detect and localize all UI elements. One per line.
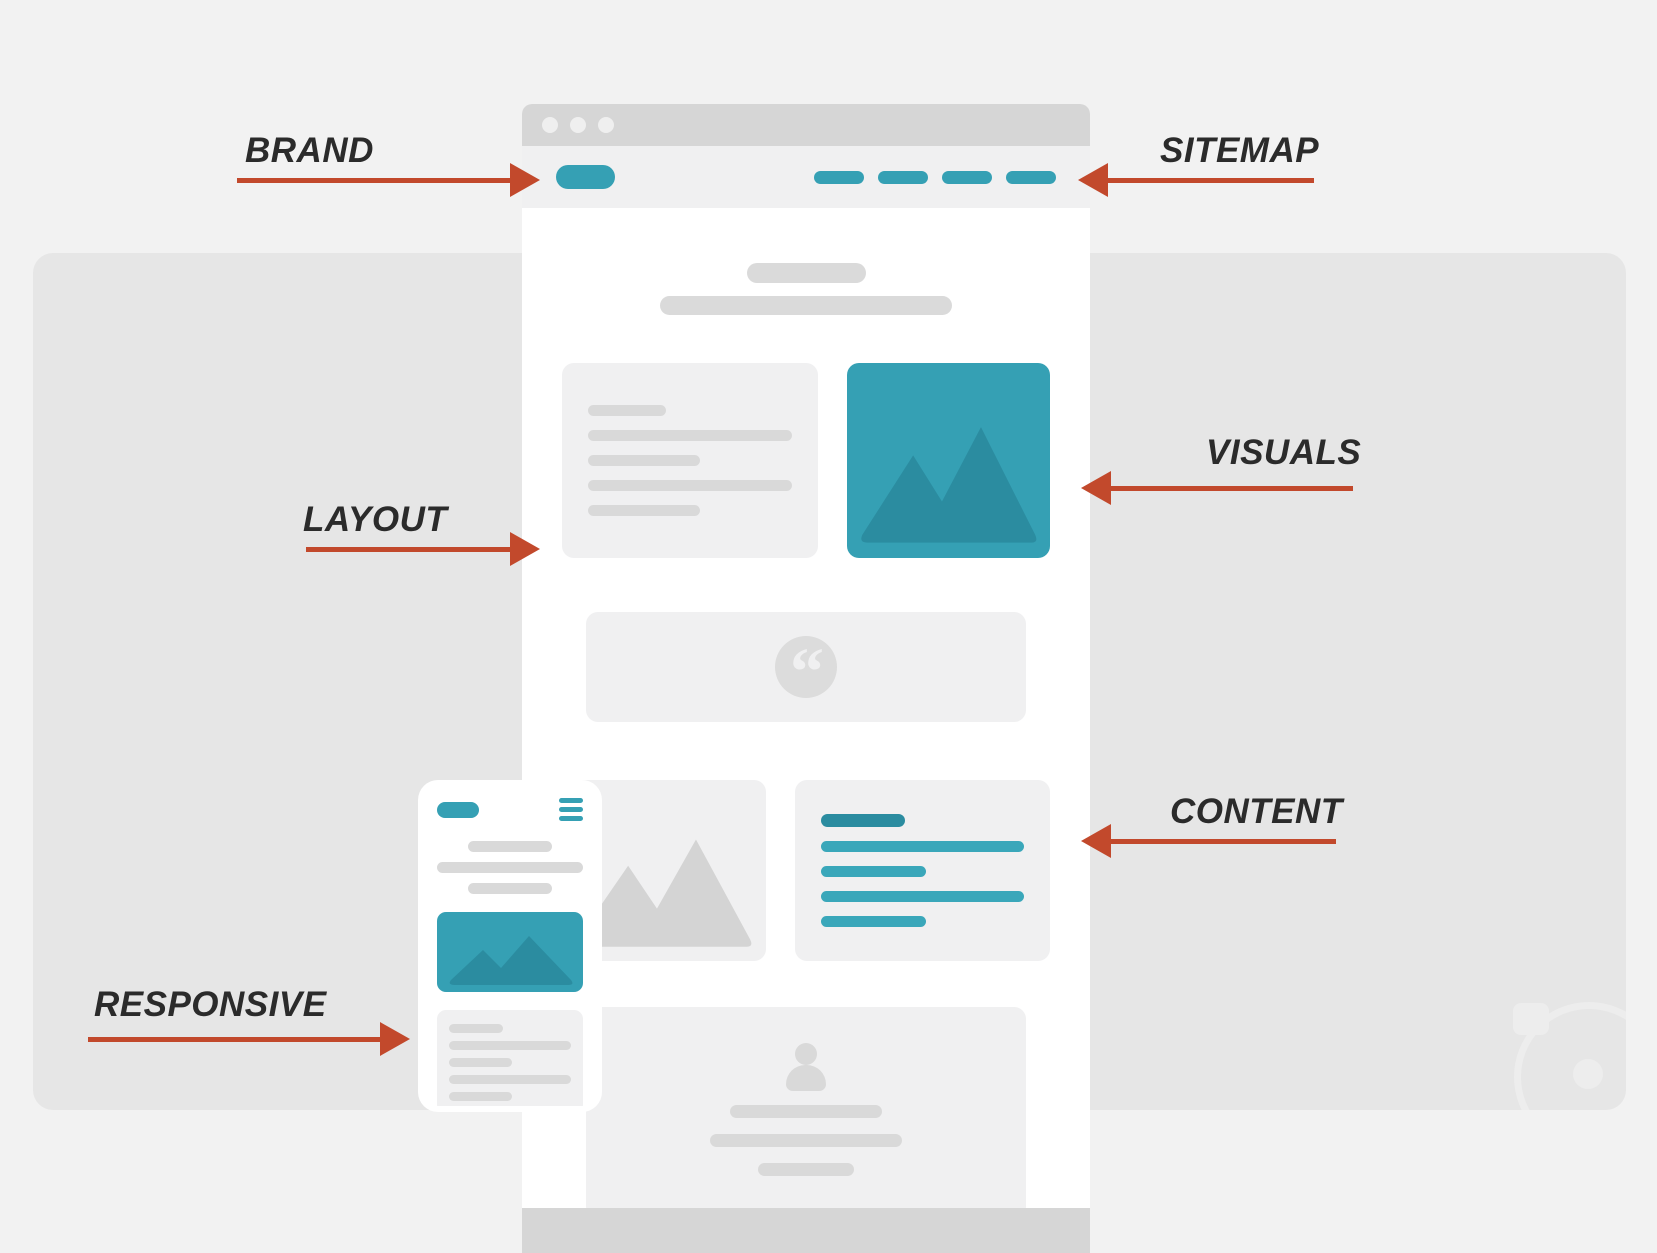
mountain-image-icon <box>437 912 583 992</box>
testimonial-card: “ <box>586 612 1026 722</box>
phone-image-card[interactable] <box>437 912 583 992</box>
page-layout: “ <box>522 208 1090 1208</box>
avatar-head <box>795 1043 817 1065</box>
window-minimize-dot-icon[interactable] <box>570 117 586 133</box>
site-navigation-bar <box>522 146 1090 208</box>
mountain-image-icon <box>847 363 1051 558</box>
nav-pill-1[interactable] <box>814 171 864 184</box>
annotation-label-sitemap: SITEMAP <box>1160 131 1319 171</box>
arrow-shaft <box>306 547 510 552</box>
phone-text-line-3 <box>468 883 552 894</box>
hero-section <box>522 208 1090 363</box>
annotation-label-brand: BRAND <box>245 131 374 171</box>
hamburger-menu-icon[interactable] <box>559 798 583 821</box>
nav-pill-3[interactable] <box>942 171 992 184</box>
phone-mockup <box>424 786 596 1106</box>
annotation-arrow-visuals <box>1081 478 1353 498</box>
avatar-body <box>786 1065 826 1091</box>
testimonial-section: “ <box>522 558 1090 722</box>
hero-subtitle-bar <box>660 296 952 315</box>
arrow-head-right-icon <box>510 163 540 197</box>
annotation-label-content: CONTENT <box>1170 792 1343 832</box>
profile-subtitle-bar <box>710 1134 902 1147</box>
arrow-head-left-icon <box>1081 471 1111 505</box>
text-card <box>562 363 818 558</box>
wireframe-annotation-diagram: “ <box>0 0 1657 1253</box>
browser-window-mockup: “ <box>522 104 1090 1208</box>
arrow-shaft <box>237 178 510 183</box>
browser-titlebar <box>522 104 1090 146</box>
arrow-head-right-icon <box>380 1022 410 1056</box>
nav-links <box>814 171 1056 184</box>
text-card-line-2 <box>588 455 700 466</box>
annotation-arrow-content <box>1081 831 1336 851</box>
phone-navigation-bar <box>437 798 583 821</box>
arrow-head-right-icon <box>510 532 540 566</box>
arrow-head-left-icon <box>1078 163 1108 197</box>
phone-card-line-2 <box>449 1041 571 1050</box>
content-card-line-2 <box>821 866 927 877</box>
profile-section <box>522 961 1090 1208</box>
annotation-arrow-responsive <box>88 1029 410 1049</box>
hero-title-bar <box>747 263 866 283</box>
annotation-arrow-sitemap <box>1078 170 1314 190</box>
phone-text-line-2 <box>437 862 583 873</box>
brand-pill-logo[interactable] <box>437 802 479 818</box>
text-card-heading-bar <box>588 405 666 416</box>
arrow-head-left-icon <box>1081 824 1111 858</box>
text-card-line-1 <box>588 430 792 441</box>
phone-text-line-1 <box>468 841 552 852</box>
phone-card-line-1 <box>449 1024 503 1033</box>
arrow-shaft <box>1108 178 1314 183</box>
brand-pill-logo[interactable] <box>556 165 615 189</box>
annotation-arrow-brand <box>237 170 540 190</box>
profile-card <box>586 1007 1026 1208</box>
content-card <box>795 780 1051 961</box>
feature-row-two <box>522 780 1090 961</box>
feature-row-one <box>522 363 1090 558</box>
profile-meta-bar <box>758 1163 854 1176</box>
arrow-shaft <box>1111 486 1353 491</box>
text-card-line-3 <box>588 480 792 491</box>
content-card-line-4 <box>821 916 927 927</box>
annotation-arrow-layout <box>306 539 540 559</box>
phone-hero-text <box>437 841 583 894</box>
phone-content-card <box>437 1010 583 1106</box>
annotation-label-visuals: VISUALS <box>1206 433 1361 473</box>
nav-pill-2[interactable] <box>878 171 928 184</box>
content-card-line-1 <box>821 841 1025 852</box>
content-card-line-3 <box>821 891 1025 902</box>
nav-pill-4[interactable] <box>1006 171 1056 184</box>
phone-card-line-3 <box>449 1058 512 1067</box>
arrow-shaft <box>88 1037 380 1042</box>
circular-watermark-icon <box>1514 1002 1626 1110</box>
annotation-label-responsive: RESPONSIVE <box>94 985 327 1025</box>
text-card-line-4 <box>588 505 700 516</box>
person-avatar-icon <box>782 1043 830 1089</box>
phone-card-line-4 <box>449 1075 571 1084</box>
hero-image-card[interactable] <box>847 363 1051 558</box>
phone-card-line-5 <box>449 1092 512 1101</box>
arrow-shaft <box>1111 839 1336 844</box>
window-close-dot-icon[interactable] <box>542 117 558 133</box>
quote-mark-icon: “ <box>775 636 837 698</box>
content-card-heading-bar <box>821 814 905 827</box>
window-maximize-dot-icon[interactable] <box>598 117 614 133</box>
profile-name-bar <box>730 1105 882 1118</box>
annotation-label-layout: LAYOUT <box>303 500 447 540</box>
